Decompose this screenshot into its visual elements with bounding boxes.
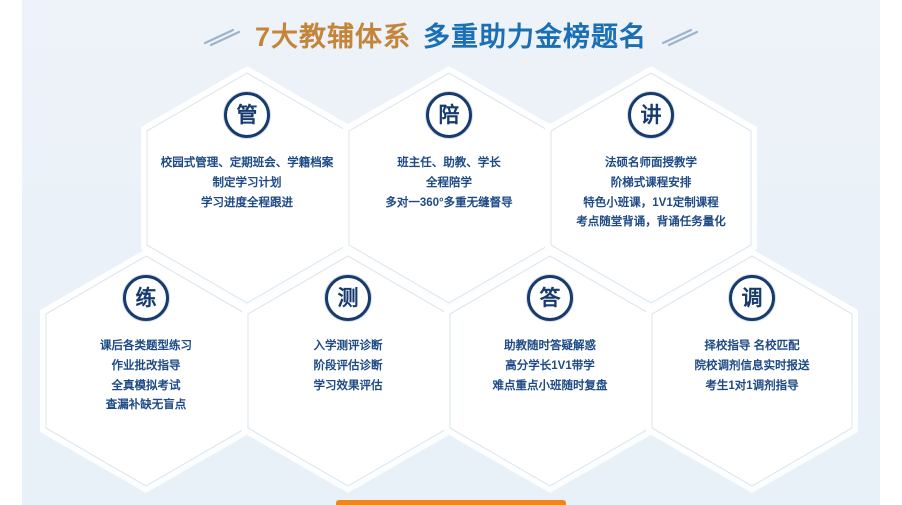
hex-line: 择校指导 名校匹配 [649, 337, 855, 357]
page-title-blue: 多重助力金榜题名 [423, 22, 647, 52]
hex-line: 难点重点小班随时复盘 [447, 377, 653, 397]
hex-description: 班主任、助教、学长 全程陪学 多对一360°多重无缝督导 [346, 154, 552, 213]
hex-line: 学习效果评估 [245, 377, 451, 397]
hex-description: 法硕名师面授教学 阶梯式课程安排 特色小班课，1V1定制课程 考点随堂背诵，背诵… [548, 154, 754, 233]
hex-badge-icon: 讲 [628, 92, 674, 138]
hex-line: 课后各类题型练习 [43, 337, 249, 357]
hex-line: 学习进度全程跟进 [144, 194, 350, 214]
hex-line: 全程陪学 [346, 174, 552, 194]
hex-line: 阶梯式课程安排 [548, 174, 754, 194]
hex-line: 多对一360°多重无缝督导 [346, 194, 552, 214]
accent-bar [336, 500, 566, 505]
hex-line: 作业批改指导 [43, 357, 249, 377]
hex-line: 校园式管理、定期班会、学籍档案 [144, 154, 350, 174]
content-panel: 7大教辅体系多重助力金榜题名 管 校园式管理、定期班会、学籍档案 制定学习计划 … [22, 0, 880, 505]
hex-description: 入学测评诊断 阶段评估诊断 学习效果评估 [245, 337, 451, 396]
hex-line: 全真模拟考试 [43, 377, 249, 397]
diagonal-lines-decoration-left [203, 26, 241, 48]
page-root: 7大教辅体系多重助力金榜题名 管 校园式管理、定期班会、学籍档案 制定学习计划 … [0, 0, 902, 505]
hex-line: 制定学习计划 [144, 174, 350, 194]
hex-badge-icon: 测 [325, 275, 371, 321]
hex-badge-icon: 答 [527, 275, 573, 321]
hex-line: 法硕名师面授教学 [548, 154, 754, 174]
section-title: 7大教辅体系多重助力金榜题名 [22, 16, 880, 58]
hex-badge-icon: 管 [224, 92, 270, 138]
hex-description: 校园式管理、定期班会、学籍档案 制定学习计划 学习进度全程跟进 [144, 154, 350, 213]
hex-line: 高分学长1V1带学 [447, 357, 653, 377]
page-title: 7大教辅体系多重助力金榜题名 [255, 24, 647, 51]
hex-line: 阶段评估诊断 [245, 357, 451, 377]
hex-description: 课后各类题型练习 作业批改指导 全真模拟考试 查漏补缺无盲点 [43, 337, 249, 416]
diagonal-lines-decoration-right [661, 26, 699, 48]
hex-line: 考生1对1调剂指导 [649, 377, 855, 397]
hex-badge-icon: 练 [123, 275, 169, 321]
hex-line: 入学测评诊断 [245, 337, 451, 357]
hex-description: 择校指导 名校匹配 院校调剂信息实时报送 考生1对1调剂指导 [649, 337, 855, 396]
hex-description: 助教随时答疑解惑 高分学长1V1带学 难点重点小班随时复盘 [447, 337, 653, 396]
hex-badge-icon: 陪 [426, 92, 472, 138]
hex-line: 考点随堂背诵，背诵任务量化 [548, 213, 754, 233]
hex-badge-icon: 调 [729, 275, 775, 321]
hex-line: 院校调剂信息实时报送 [649, 357, 855, 377]
page-title-orange: 7大教辅体系 [255, 22, 411, 52]
hex-line: 查漏补缺无盲点 [43, 396, 249, 416]
hex-line: 班主任、助教、学长 [346, 154, 552, 174]
hex-line: 助教随时答疑解惑 [447, 337, 653, 357]
hex-line: 特色小班课，1V1定制课程 [548, 194, 754, 214]
